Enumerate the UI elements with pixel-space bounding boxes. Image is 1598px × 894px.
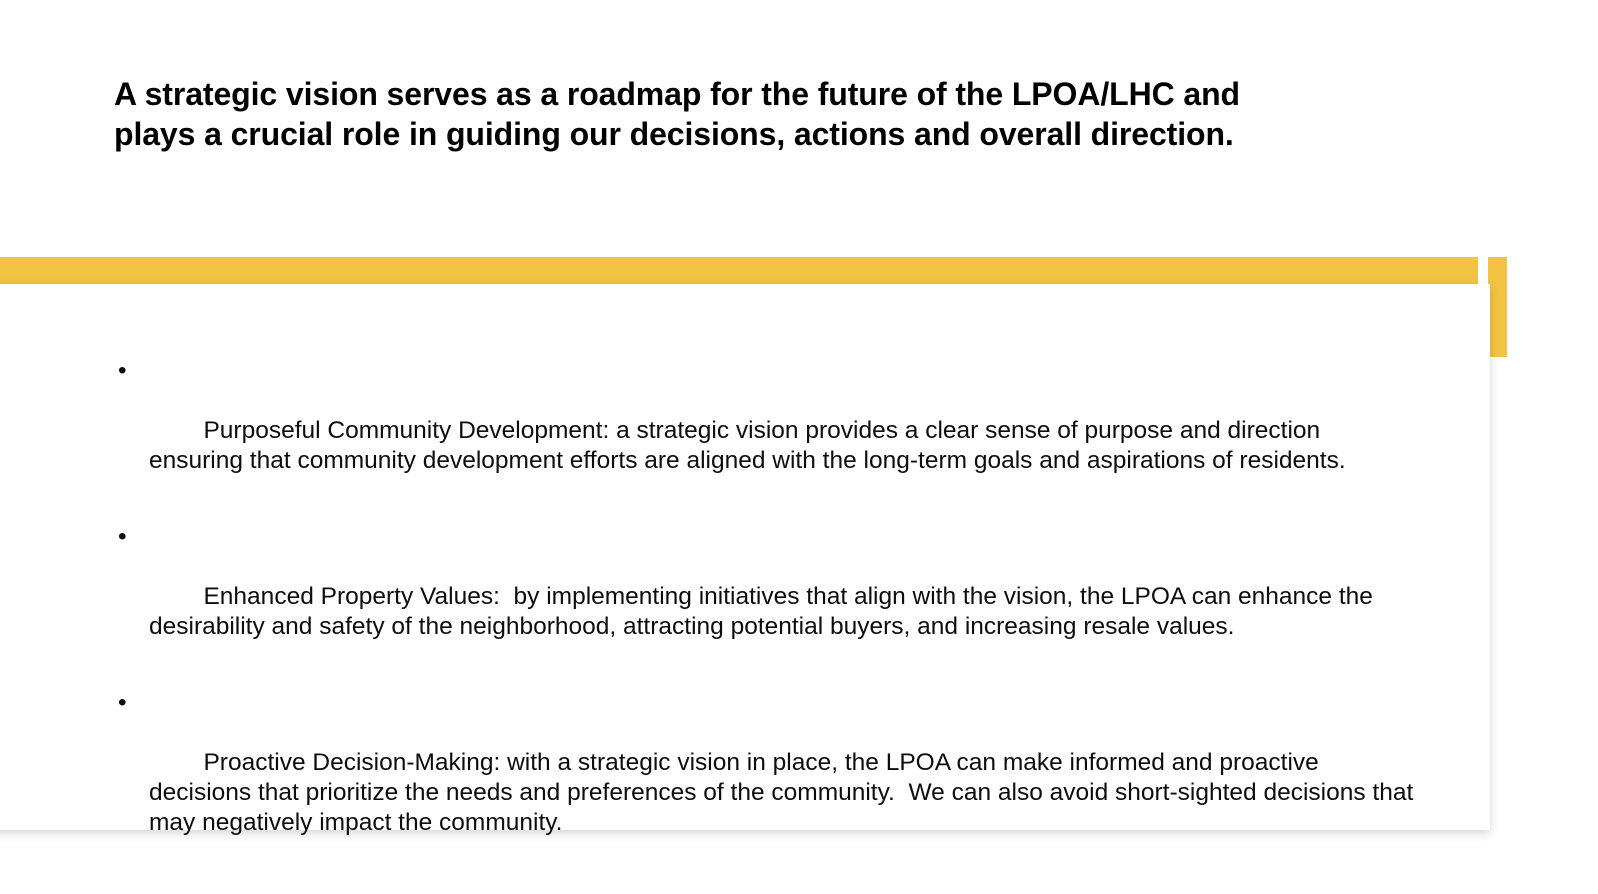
list-item-text: Purposeful Community Development: a stra… (149, 417, 1346, 474)
title-line-2: plays a crucial role in guiding our deci… (114, 114, 1294, 154)
bullet-point-icon: • (118, 884, 127, 894)
accent-horizontal-bar (0, 257, 1478, 284)
slide-title: A strategic vision serves as a roadmap f… (114, 74, 1294, 154)
list-item: • Proactive Decision-Making: with a stra… (118, 688, 1418, 868)
content-panel: • Purposeful Community Development: a st… (0, 284, 1490, 830)
list-item-text: Proactive Decision-Making: with a strate… (149, 749, 1420, 836)
bullet-point-icon: • (118, 522, 127, 552)
list-item: • Effective Resource Allocation: a strat… (118, 884, 1418, 894)
bullet-point-icon: • (118, 356, 127, 386)
title-line-1: A strategic vision serves as a roadmap f… (114, 74, 1294, 114)
list-item: • Purposeful Community Development: a st… (118, 356, 1418, 506)
list-item: • Enhanced Property Values: by implement… (118, 522, 1418, 672)
bullet-list: • Purposeful Community Development: a st… (118, 356, 1418, 894)
accent-vertical-bar (1488, 257, 1507, 357)
list-item-text: Enhanced Property Values: by implementin… (149, 583, 1380, 640)
slide-canvas: A strategic vision serves as a roadmap f… (0, 0, 1598, 894)
bullet-point-icon: • (118, 688, 127, 718)
